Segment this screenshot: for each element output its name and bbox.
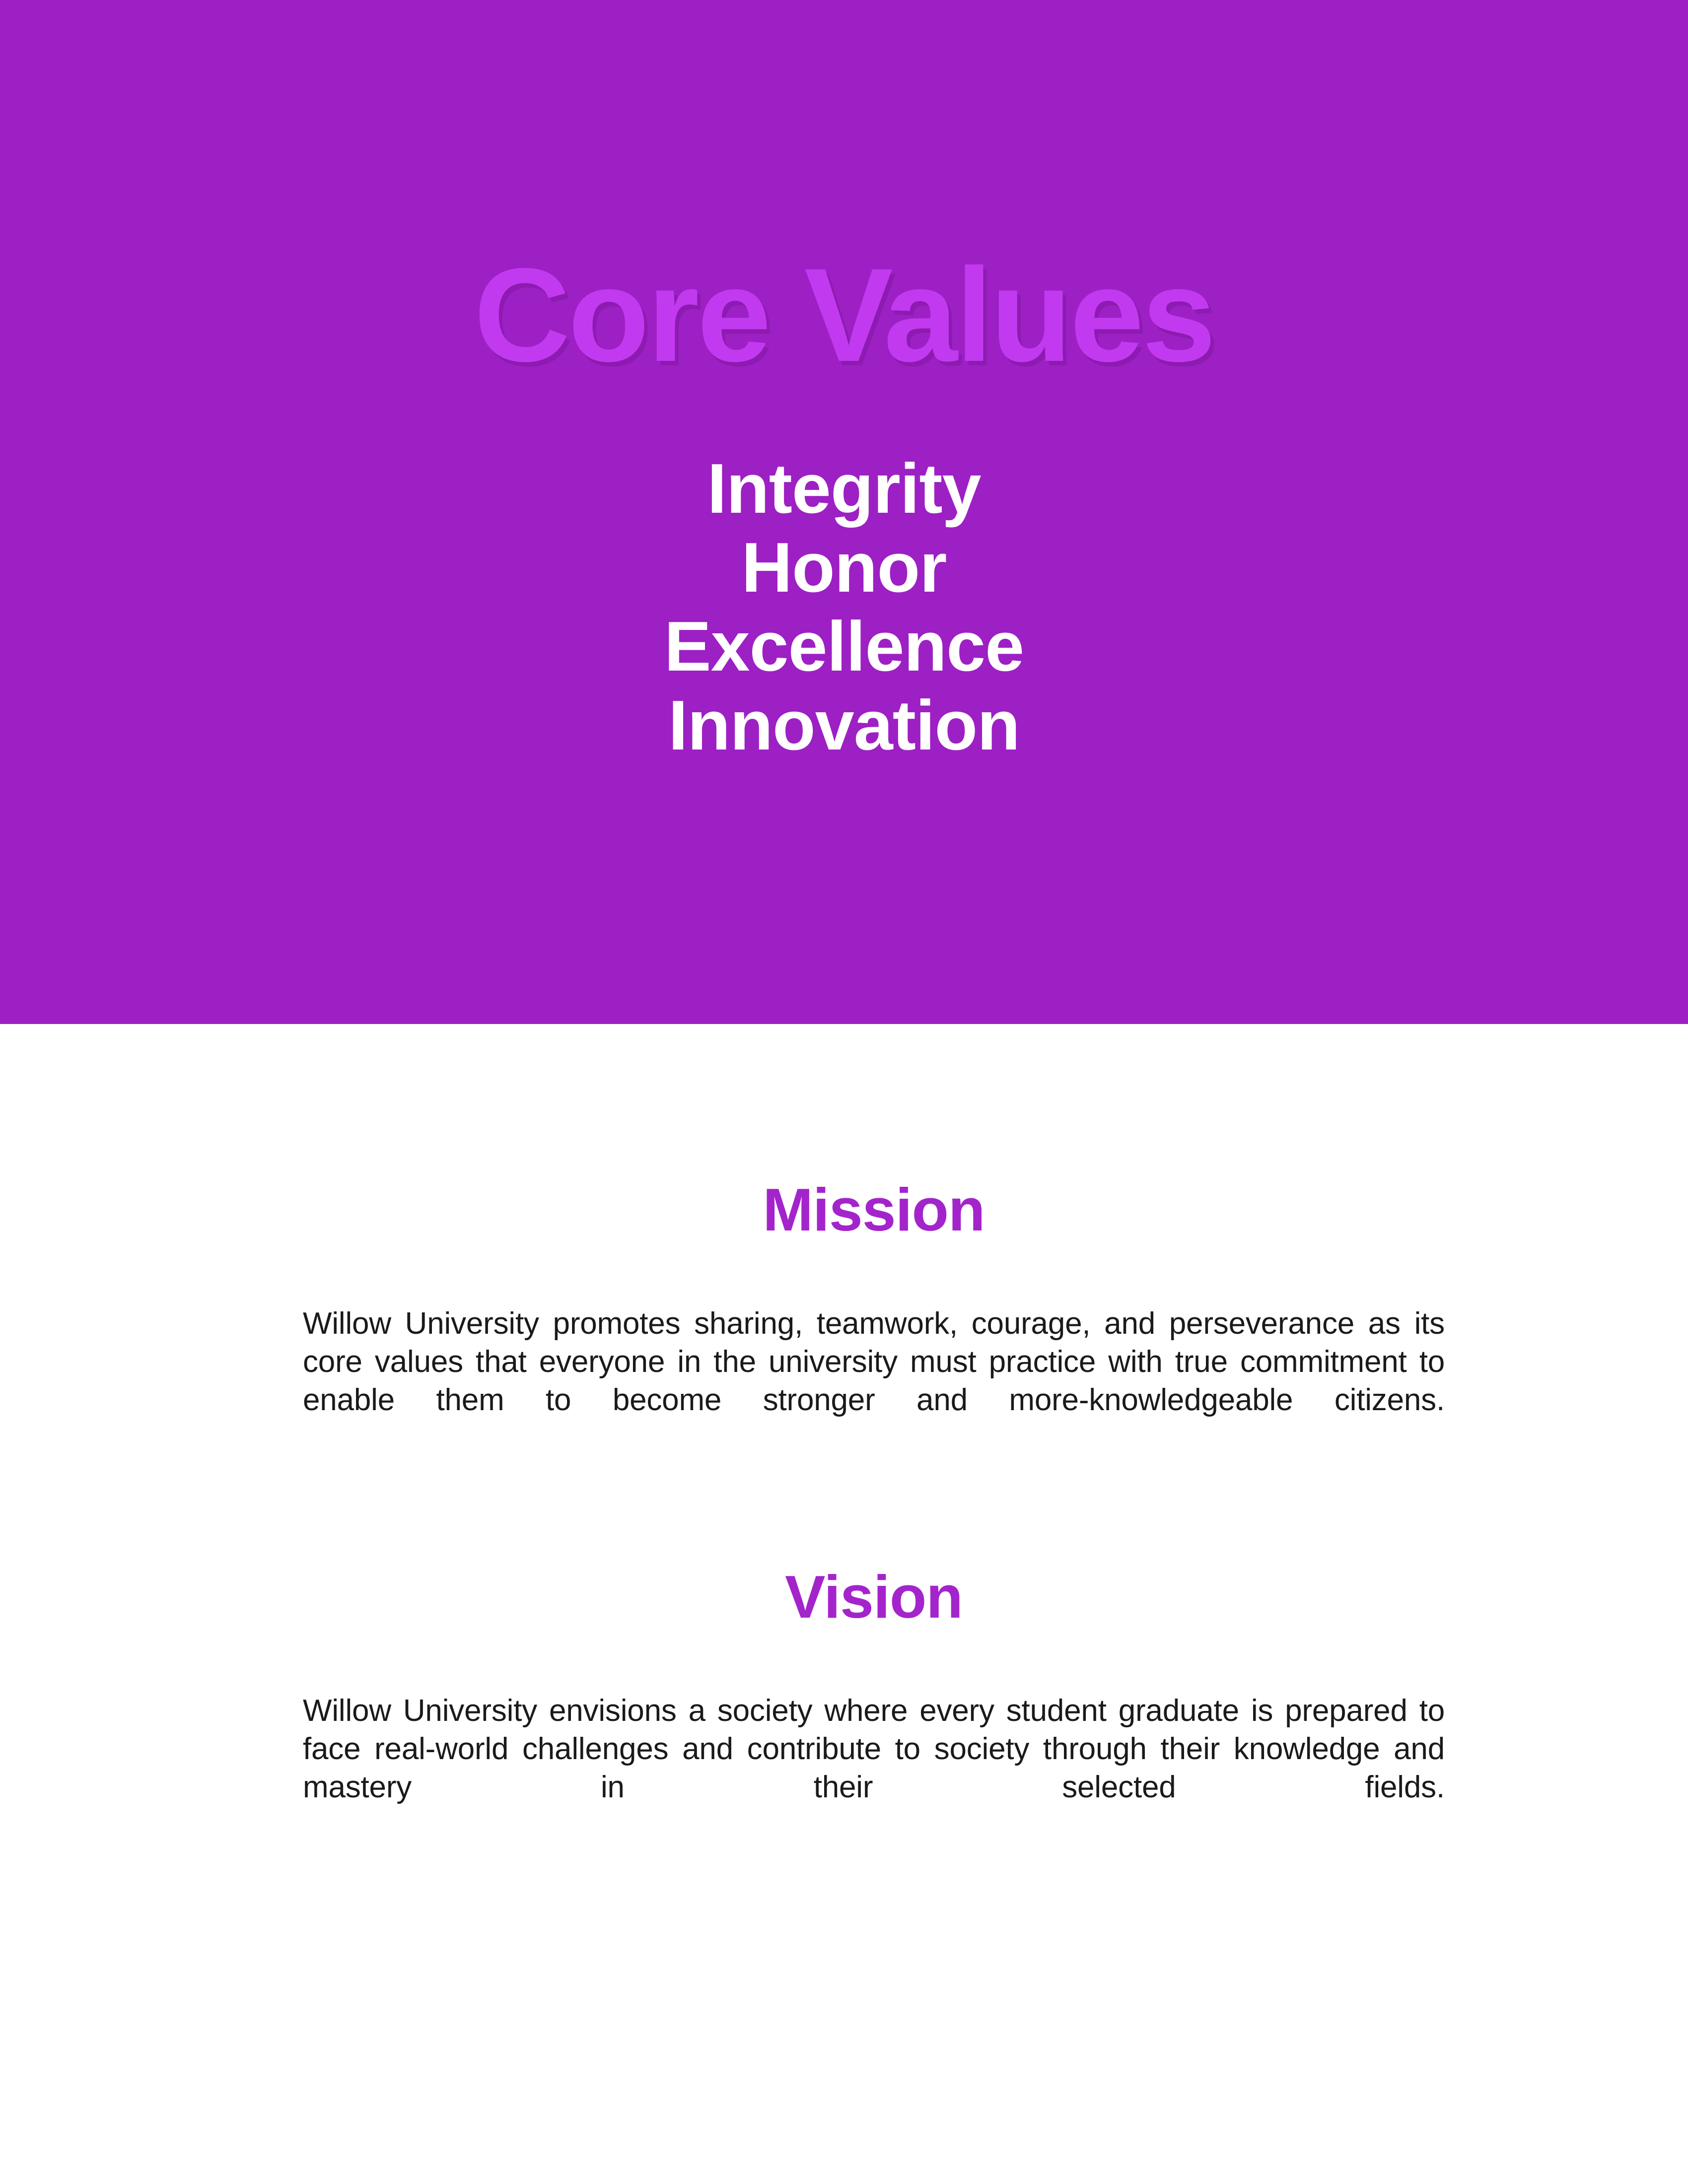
section-vision: Vision Willow University envisions a soc… <box>303 1565 1445 1845</box>
core-value-item-excellence: Excellence <box>0 607 1688 686</box>
section-heading-vision: Vision <box>303 1565 1445 1629</box>
section-body-mission: Willow University promotes sharing, team… <box>303 1305 1445 1458</box>
content-area: Mission Willow University promotes shari… <box>0 1024 1688 2184</box>
core-value-item-honor: Honor <box>0 528 1688 607</box>
section-heading-mission: Mission <box>303 1178 1445 1241</box>
core-values-list: Integrity Honor Excellence Innovation <box>0 449 1688 765</box>
hero-banner: Core Values Integrity Honor Excellence I… <box>0 0 1688 1024</box>
document-page: Core Values Integrity Honor Excellence I… <box>0 0 1688 2184</box>
core-value-item-innovation: Innovation <box>0 686 1688 765</box>
page-title: Core Values <box>0 248 1688 381</box>
section-body-vision: Willow University envisions a society wh… <box>303 1692 1445 1845</box>
section-mission: Mission Willow University promotes shari… <box>303 1178 1445 1458</box>
core-value-item-integrity: Integrity <box>0 449 1688 528</box>
